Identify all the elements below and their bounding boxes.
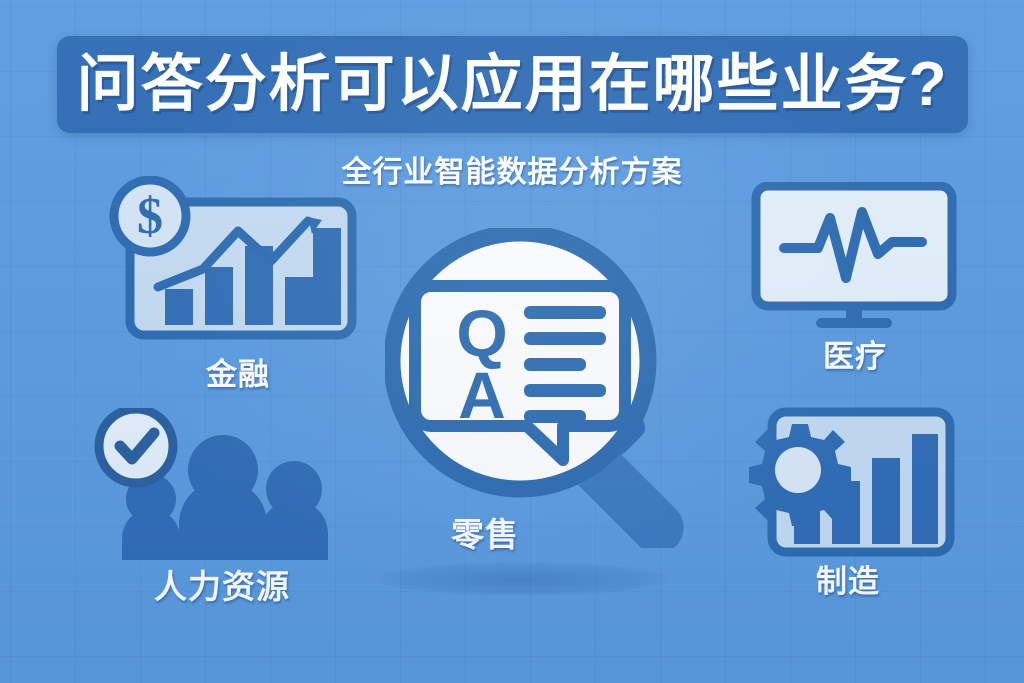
item-label-manufacturing: 制造 [738, 556, 958, 601]
page-title: 问答分析可以应用在哪些业务? [77, 54, 949, 116]
item-finance: $ [108, 176, 368, 346]
dollar-circle-icon: $ [137, 188, 163, 245]
gear-icon [749, 424, 851, 526]
item-label-healthcare: 医疗 [745, 331, 965, 376]
finance-growth-chart-icon: $ [108, 176, 368, 346]
item-label-hr: 人力资源 [82, 560, 362, 608]
magnifier-shadow [378, 562, 668, 596]
item-label-finance: 金融 [108, 349, 368, 394]
letter-a-icon: A [458, 358, 506, 432]
item-hr [92, 408, 352, 560]
item-label-retail: 零售 [365, 508, 605, 556]
item-manufacturing [738, 404, 958, 559]
magnifier-qa-icon: Q A [385, 228, 725, 548]
center-magnifier: Q A [385, 228, 725, 548]
title-banner: 问答分析可以应用在哪些业务? [57, 36, 968, 133]
people-group-icon [92, 408, 352, 560]
gear-bar-chart-icon [738, 404, 958, 559]
heartbeat-monitor-icon [750, 182, 965, 332]
item-healthcare [750, 182, 965, 332]
infographic-canvas: 问答分析可以应用在哪些业务? 全行业智能数据分析方案 $ 金融 [0, 0, 1024, 683]
